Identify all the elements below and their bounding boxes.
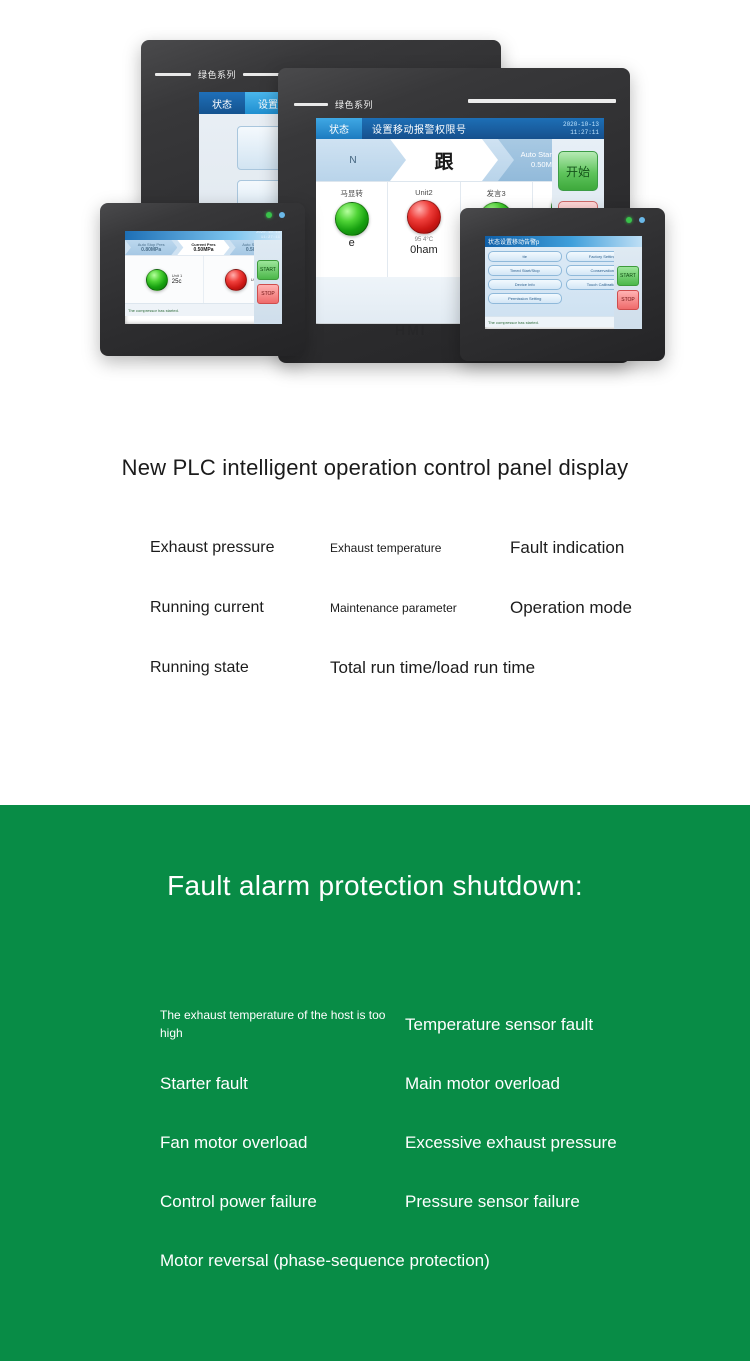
fault-row: Motor reversal (phase-sequence protectio… [160, 1231, 720, 1290]
fault-starter-fault: Starter fault [160, 1074, 405, 1094]
status-led-green-icon [335, 202, 369, 236]
indicator-column: 马显转 e [316, 182, 388, 277]
feature-row: Running state Total run time/load run ti… [150, 638, 710, 698]
brand-label: 绿色系列 [198, 68, 236, 81]
power-led-icon [266, 212, 272, 218]
main-screen-clock: 2020-10-13 11:27:11 [563, 118, 604, 139]
unit-cell: Unit 1 25c [125, 256, 204, 303]
indicator-label: Unit2 [415, 188, 433, 197]
comm-led-icon [279, 212, 285, 218]
brand-dash-left [155, 73, 191, 76]
hero-product-image: 绿色系列 状态 设置 M 用户设置 绿色系列 [0, 0, 750, 420]
chevron-left-value: N [316, 139, 390, 181]
fault-motor-reversal: Motor reversal (phase-sequence protectio… [160, 1251, 490, 1271]
main-screen-header: 状态 设置移动报警权限号 2020-10-13 11:27:11 [316, 118, 604, 139]
right-control-panel: START STOP [614, 247, 642, 329]
indicator-value: e [349, 237, 355, 249]
feature-exhaust-temperature: Exhaust temperature [330, 541, 510, 555]
start-button[interactable]: START [257, 260, 279, 280]
page-title: New PLC intelligent operation control pa… [0, 455, 750, 481]
status-led-green-icon [146, 269, 168, 291]
clock-date: 2020-10-13 [563, 121, 599, 129]
fault-temperature-sensor-fault: Temperature sensor fault [405, 1015, 720, 1035]
status-led-red-icon [225, 269, 247, 291]
indicator-label: 马显转 [340, 188, 363, 199]
stop-button[interactable]: STOP [617, 290, 639, 310]
unit-label: Unit 1 [172, 273, 182, 278]
brand-dash-right [243, 73, 279, 76]
unit-value: 25c [172, 279, 182, 285]
unit-caption: Unit 1 25c [172, 273, 182, 287]
fault-alarm-title: Fault alarm protection shutdown: [0, 870, 750, 902]
fault-exhaust-temperature-too-high: The exhaust temperature of the host is t… [160, 1007, 405, 1042]
status-led-red-icon [407, 200, 441, 234]
menu-button-permission-setting[interactable]: Permission Setting [488, 293, 562, 304]
brand-stripe-main [468, 99, 616, 103]
stop-button[interactable]: STOP [257, 284, 279, 304]
left-device-screen: 2020-10-13 11:27:11 Auto Stop Pres 0.80M… [125, 231, 282, 324]
feature-list: Exhaust pressure Exhaust temperature Fau… [150, 518, 710, 698]
right-device-screen: 状态设置移动告警p tte Factory Setting Timed Star… [485, 236, 642, 329]
main-tab-status[interactable]: 状态 [316, 118, 362, 139]
menu-button-timed-start-stop[interactable]: Timed Start/Stop [488, 265, 562, 276]
feature-operation-mode: Operation mode [510, 598, 710, 618]
chevron-auto-stop-pres: Auto Stop Pres 0.80MPa [125, 240, 177, 255]
brand-dash-left-main [294, 103, 328, 106]
start-button[interactable]: 开始 [558, 151, 598, 191]
feature-row: Running current Maintenance parameter Op… [150, 578, 710, 638]
left-screen-clock: 2020-10-13 11:27:11 [256, 231, 280, 240]
device-brand-bar-main: 绿色系列 [294, 98, 373, 111]
main-screen-title: 设置移动报警权限号 [362, 118, 467, 139]
hmi-device-front-right: 状态设置移动告警p tte Factory Setting Timed Star… [460, 208, 665, 361]
segment-value: 0.80MPa [141, 247, 161, 253]
fault-excessive-exhaust-pressure: Excessive exhaust pressure [405, 1133, 720, 1153]
image-watermark: HMI [395, 322, 427, 338]
right-screen-body: tte Factory Setting Timed Start/Stop Con… [485, 247, 642, 316]
chevron-current-pres: Current Pres 0.50MPa [177, 240, 229, 255]
comm-led-icon [639, 217, 645, 223]
left-screen-header: 2020-10-13 11:27:11 [125, 231, 282, 240]
fault-pressure-sensor-failure: Pressure sensor failure [405, 1192, 720, 1212]
fault-row: The exhaust temperature of the host is t… [160, 995, 720, 1054]
clock-date: 2020-10-13 [256, 231, 280, 236]
device-indicator-bar [460, 208, 665, 232]
indicator-sub: 95 4°C [415, 237, 433, 243]
fault-row: Fan motor overload Excessive exhaust pre… [160, 1113, 720, 1172]
indicator-label: 发言3 [487, 188, 506, 199]
feature-running-state: Running state [150, 659, 330, 677]
chevron-center-value: 跟 [390, 139, 498, 181]
menu-button-tte[interactable]: tte [488, 251, 562, 262]
feature-row: Exhaust pressure Exhaust temperature Fau… [150, 518, 710, 578]
left-control-panel: START STOP [254, 240, 282, 324]
clock-time: 11:27:11 [570, 129, 599, 137]
fault-alarm-section: Fault alarm protection shutdown: The exh… [0, 805, 750, 1361]
fault-row: Starter fault Main motor overload [160, 1054, 720, 1113]
menu-button-device-info[interactable]: Device Info [488, 279, 562, 290]
status-text: The compressor has started. [488, 320, 539, 325]
feature-exhaust-pressure: Exhaust pressure [150, 539, 330, 557]
hmi-device-front-left: 2020-10-13 11:27:11 Auto Stop Pres 0.80M… [100, 203, 305, 356]
brand-label-main: 绿色系列 [335, 98, 373, 111]
segment-value: 0.50MPa [193, 247, 213, 253]
product-top-section: 绿色系列 状态 设置 M 用户设置 绿色系列 [0, 0, 750, 805]
right-screen-title: 状态设置移动告警p [485, 236, 642, 247]
feature-maintenance-parameter: Maintenance parameter [330, 601, 510, 615]
fault-row: Control power failure Pressure sensor fa… [160, 1172, 720, 1231]
fault-main-motor-overload: Main motor overload [405, 1074, 720, 1094]
start-button[interactable]: START [617, 266, 639, 286]
fault-control-power-failure: Control power failure [160, 1192, 405, 1212]
power-led-icon [626, 217, 632, 223]
feature-fault-indication: Fault indication [510, 538, 710, 558]
indicator-column: Unit2 95 4°C 0ham [388, 182, 460, 277]
fault-fan-motor-overload: Fan motor overload [160, 1133, 405, 1153]
feature-total-run-time: Total run time/load run time [330, 658, 535, 678]
feature-running-current: Running current [150, 599, 330, 617]
device-brand-bar: 绿色系列 [155, 68, 279, 81]
indicator-value: 0ham [410, 244, 438, 256]
device-indicator-bar [100, 203, 305, 227]
tab-status[interactable]: 状态 [199, 92, 245, 114]
fault-alarm-list: The exhaust temperature of the host is t… [160, 995, 720, 1290]
